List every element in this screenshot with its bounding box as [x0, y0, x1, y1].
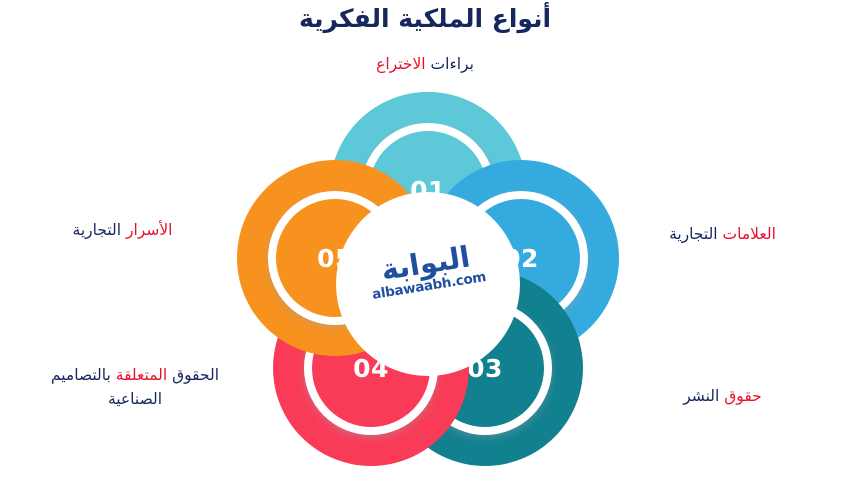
label-trademarks: العلامات التجارية — [600, 222, 845, 246]
label-industrial-designs: الحقوق المتعلقة بالتصاميم الصناعية — [5, 363, 265, 411]
label-trademarks-part2: التجارية — [669, 225, 718, 243]
label-designs-part2: المتعلقة — [116, 366, 167, 384]
label-designs-part1: الحقوق — [172, 366, 219, 384]
label-designs-part3: بالتصاميم — [51, 366, 111, 384]
center-hub — [336, 192, 520, 376]
label-designs-part4: الصناعية — [108, 390, 162, 408]
label-trademarks-part1: العلامات — [723, 225, 776, 243]
label-trade-secrets: الأسرار التجارية — [5, 218, 240, 242]
label-patents: براءات الاختراع — [0, 52, 850, 76]
page-title: أنواع الملكية الفكرية — [0, 2, 850, 36]
infographic-canvas: أنواع الملكية الفكرية 01 02 — [0, 0, 850, 490]
label-patents-part2: الاختراع — [376, 55, 426, 73]
petal-diagram: 01 02 03 04 — [228, 88, 628, 480]
label-copyright-part1: حقوق — [724, 387, 761, 405]
label-secrets-part1: الأسرار — [126, 221, 172, 239]
label-copyright-part2: النشر — [683, 387, 719, 405]
label-patents-part1: براءات — [431, 55, 474, 73]
petal-diagram-svg: 01 02 03 04 — [228, 88, 628, 480]
label-copyright: حقوق النشر — [600, 384, 845, 408]
label-secrets-part2: التجارية — [73, 221, 122, 239]
